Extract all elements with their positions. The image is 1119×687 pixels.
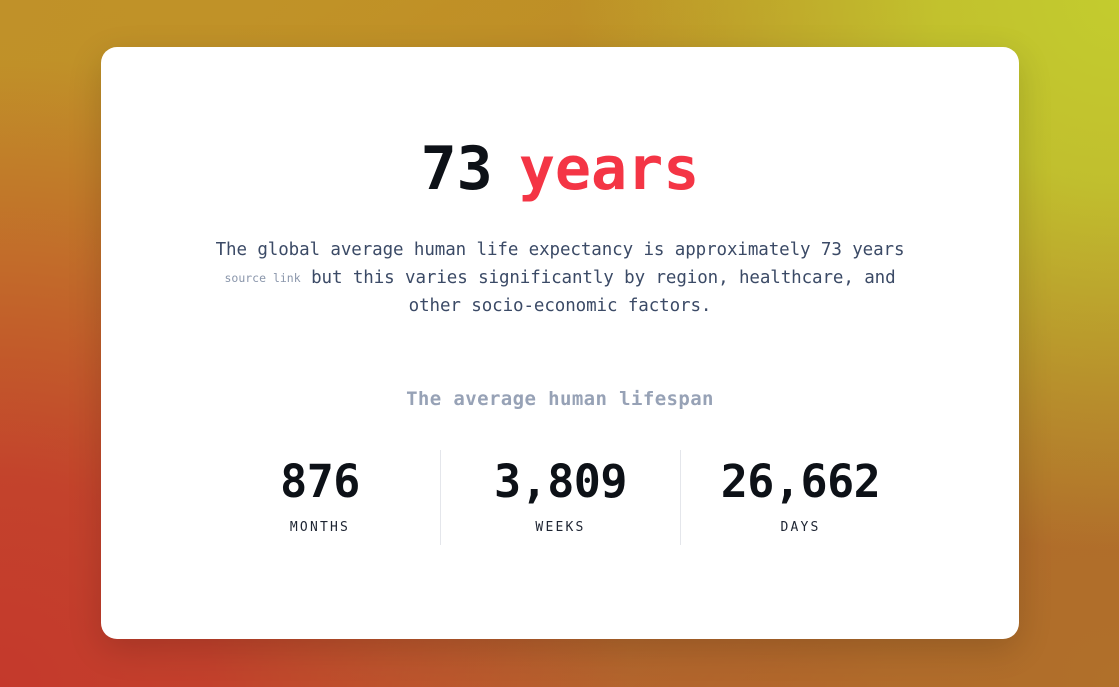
source-link[interactable]: source link xyxy=(224,271,300,285)
stat-value: 3,809 xyxy=(441,458,680,507)
stat-months: 876 MONTHS xyxy=(200,450,440,545)
description-text-before: The global average human life expectancy… xyxy=(216,240,905,260)
description-text-after: but this varies significantly by region,… xyxy=(311,268,895,316)
headline-value: 73 xyxy=(421,134,493,204)
subtitle: The average human lifespan xyxy=(101,388,1019,410)
lifespan-card: 73years The global average human life ex… xyxy=(101,47,1019,639)
description-paragraph: The global average human life expectancy… xyxy=(195,236,925,320)
stat-value: 26,662 xyxy=(681,458,920,507)
stats-row: 876 MONTHS 3,809 WEEKS 26,662 DAYS xyxy=(101,450,1019,545)
headline-unit: years xyxy=(519,134,700,204)
stat-label: WEEKS xyxy=(441,520,680,535)
stat-value: 876 xyxy=(200,458,440,507)
headline: 73years xyxy=(101,139,1019,199)
stat-weeks: 3,809 WEEKS xyxy=(440,450,680,545)
stat-label: DAYS xyxy=(681,520,920,535)
stat-label: MONTHS xyxy=(200,520,440,535)
stat-days: 26,662 DAYS xyxy=(680,450,920,545)
